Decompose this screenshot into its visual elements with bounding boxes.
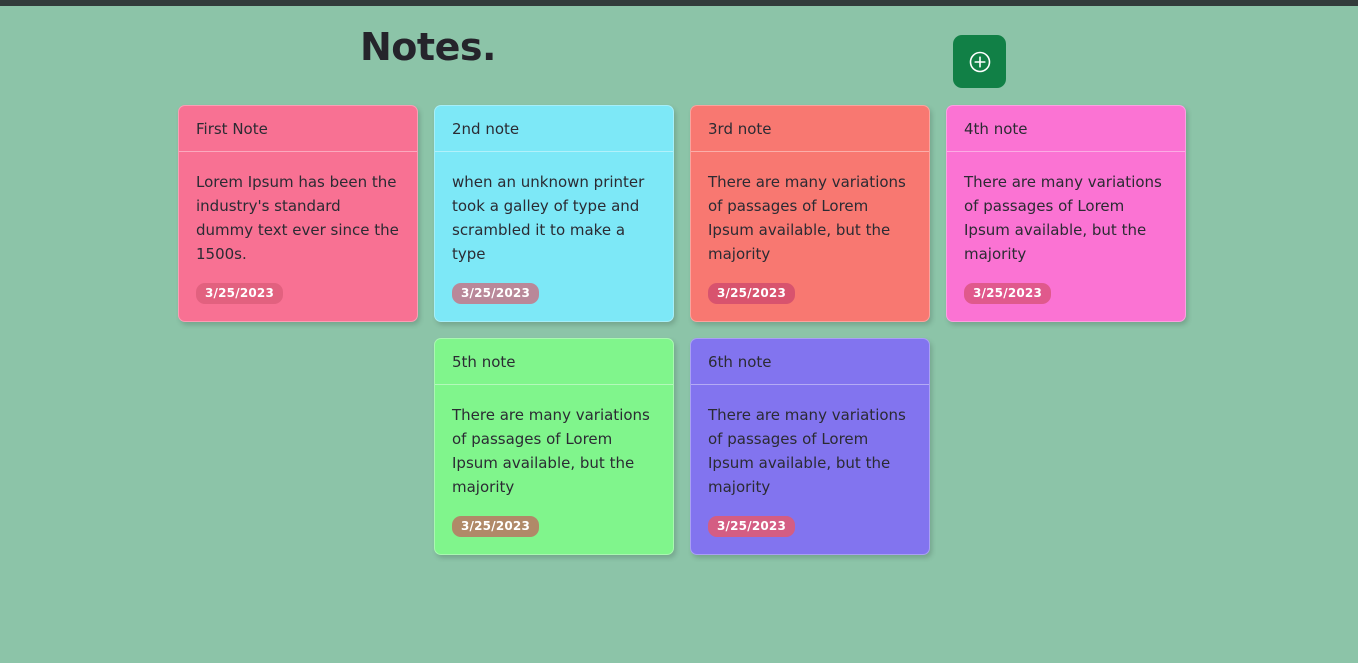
note-card[interactable]: First NoteLorem Ipsum has been the indus… [178,105,418,322]
note-body-text: when an unknown printer took a galley of… [435,152,673,266]
note-body-text: There are many variations of passages of… [435,385,673,499]
note-card[interactable]: 6th noteThere are many variations of pas… [690,338,930,555]
note-title: 5th note [435,339,673,385]
note-title: First Note [179,106,417,152]
note-date-badge: 3/25/2023 [964,283,1051,304]
note-title: 3rd note [691,106,929,152]
note-date-badge: 3/25/2023 [708,516,795,537]
note-footer: 3/25/2023 [435,266,673,321]
note-date-badge: 3/25/2023 [196,283,283,304]
note-card[interactable]: 5th noteThere are many variations of pas… [434,338,674,555]
plus-circle-icon [967,49,993,75]
add-note-button[interactable] [953,35,1006,88]
note-footer: 3/25/2023 [179,266,417,321]
note-footer: 3/25/2023 [691,266,929,321]
note-title: 2nd note [435,106,673,152]
note-date-badge: 3/25/2023 [708,283,795,304]
note-title: 6th note [691,339,929,385]
note-body-text: Lorem Ipsum has been the industry's stan… [179,152,417,266]
note-body-text: There are many variations of passages of… [691,152,929,266]
note-footer: 3/25/2023 [435,499,673,554]
note-date-badge: 3/25/2023 [452,283,539,304]
note-body-text: There are many variations of passages of… [947,152,1185,266]
note-footer: 3/25/2023 [947,266,1185,321]
notes-grid: First NoteLorem Ipsum has been the indus… [178,105,1190,555]
note-body-text: There are many variations of passages of… [691,385,929,499]
notes-app: Notes. First NoteLorem Ipsum has been th… [0,6,1358,663]
note-footer: 3/25/2023 [691,499,929,554]
note-card[interactable]: 2nd notewhen an unknown printer took a g… [434,105,674,322]
note-card[interactable]: 4th noteThere are many variations of pas… [946,105,1186,322]
page-title: Notes. [360,25,496,69]
note-title: 4th note [947,106,1185,152]
note-card[interactable]: 3rd noteThere are many variations of pas… [690,105,930,322]
app-header: Notes. [0,6,1358,102]
note-date-badge: 3/25/2023 [452,516,539,537]
